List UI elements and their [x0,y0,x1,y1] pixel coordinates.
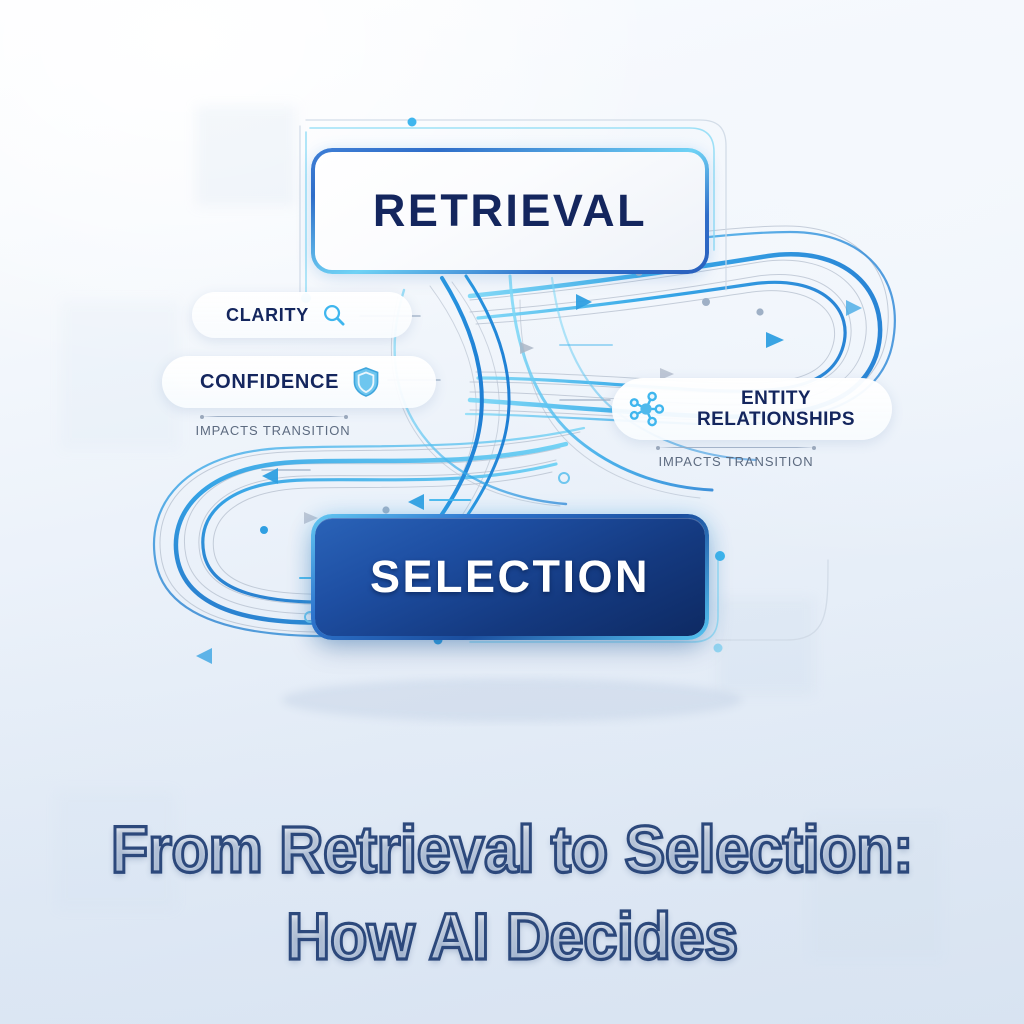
retrieval-node-label: RETRIEVAL [373,185,647,237]
magnifier-icon [321,302,347,328]
page-title: From Retrieval to Selection: How AI Deci… [36,806,988,980]
factor-pill-entity-relationships-label: ENTITY RELATIONSHIPS [678,388,874,431]
confidence-caption-rule [200,416,348,417]
entity-caption-rule [656,447,816,448]
factor-pill-confidence[interactable]: CONFIDENCE [162,356,436,408]
network-nodes-icon [626,389,666,429]
shield-icon [351,366,381,398]
factor-pill-clarity-label: CLARITY [226,305,309,326]
factor-pill-confidence-label: CONFIDENCE [200,371,339,394]
page-title-line-2: How AI Decides [36,893,988,980]
factor-pill-clarity[interactable]: CLARITY [192,292,412,338]
page-title-line-1: From Retrieval to Selection: [36,806,988,893]
confidence-caption: IMPACTS TRANSITION [162,423,384,438]
entity-caption: IMPACTS TRANSITION [612,454,860,469]
infographic-canvas: RETRIEVAL SELECTION CLARITY CONFIDENCE I… [0,0,1024,1024]
selection-node[interactable]: SELECTION [315,518,705,636]
selection-node-label: SELECTION [370,551,650,603]
factor-pill-entity-relationships[interactable]: ENTITY RELATIONSHIPS [612,378,892,440]
retrieval-node[interactable]: RETRIEVAL [315,152,705,270]
